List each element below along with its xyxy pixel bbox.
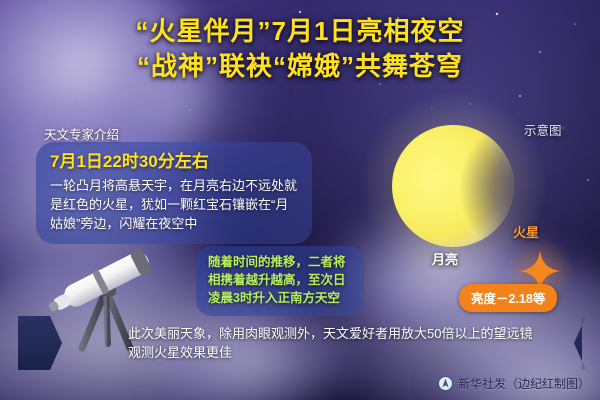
timing-note-body: 随着时间的推移，二者将相携着越升越高，至次日凌晨3时升入正南方天空 [208,253,352,307]
expert-info-card: 7月1日22时30分左右 一轮凸月将高悬天宇，在月亮右边不远处就是红色的火星，犹… [36,142,312,244]
expert-info-body: 一轮凸月将高悬天宇，在月亮右边不远处就是红色的火星，犹如一颗红宝石镶嵌在“月姑娘… [50,176,298,233]
bottom-ribbon-content: 此次美丽天象，除用肉眼观测外，天文爱好者用放大50倍以上的望远镜 观测火星效果更… [18,316,582,370]
expert-intro-tag: 天文专家介绍 [44,124,119,143]
timing-note-card: 随着时间的推移，二者将相携着越升越高，至次日凌晨3时升入正南方天空 [196,246,364,316]
moon-label: 月亮 [432,249,458,268]
credit-text: 新华社发（边纪红制图） [458,375,590,392]
mars-label: 火星 [513,222,539,241]
headline: “火星伴月”7月1日亮相夜空 “战神”联袂“嫦娥”共舞苍穹 [0,14,600,84]
schematic-label: 示意图 [524,120,562,139]
brightness-badge: 亮度－2.18等 [459,284,557,312]
poster-canvas: “火星伴月”7月1日亮相夜空 “战神”联袂“嫦娥”共舞苍穹 示意图 月亮 火星 … [0,0,600,400]
headline-line-2: “战神”联袂“嫦娥”共舞苍穹 [0,49,600,84]
moon-terminator-shadow [392,125,514,247]
moon-disc [392,125,514,247]
credit-line: 新华社发（边纪红制图） [438,375,590,392]
expert-info-title: 7月1日22时30分左右 [50,150,298,174]
headline-line-1: “火星伴月”7月1日亮相夜空 [0,14,600,49]
ribbon-text-block: 此次美丽天象，除用肉眼观测外，天文爱好者用放大50倍以上的望远镜 观测火星效果更… [128,324,532,362]
ribbon-line-2: 观测火星效果更佳 [128,343,532,362]
ribbon-line-1: 此次美丽天象，除用肉眼观测外，天文爱好者用放大50倍以上的望远镜 [128,324,532,343]
xinhua-logo-icon [438,376,453,391]
moon-illustration [392,125,514,247]
